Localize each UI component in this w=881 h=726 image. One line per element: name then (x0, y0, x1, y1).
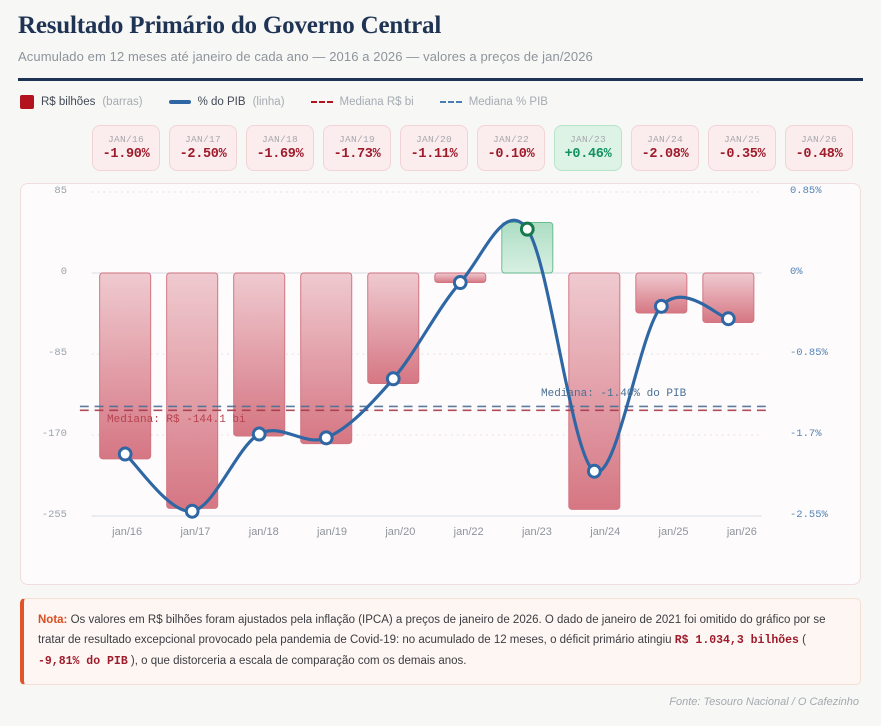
legend-item-bars: R$ bilhões (barras) (20, 95, 143, 109)
y-axis-tick-left-0: 85 (54, 185, 67, 197)
legend-item-median-brl: Mediana R$ bi (311, 96, 414, 108)
stat-card-jan-16[interactable]: JAN/16-1.90% (92, 125, 160, 171)
line-point-jan-23[interactable] (521, 223, 533, 235)
legend-label-bars: R$ bilhões (41, 96, 95, 108)
line-point-jan-18[interactable] (253, 428, 265, 440)
x-axis-tick-jan-26: jan/26 (708, 526, 776, 538)
x-axis-tick-jan-23: jan/23 (503, 526, 571, 538)
legend-item-line: % do PIB (linha) (169, 96, 285, 108)
stat-card-value: -1.90% (103, 147, 150, 162)
stat-card-value: -2.08% (642, 147, 689, 162)
stat-card-key: JAN/16 (108, 134, 144, 145)
stat-card-key: JAN/26 (801, 134, 837, 145)
y-axis-tick-right-4: -2.55% (790, 509, 828, 521)
dashed-blue-swatch-icon (440, 101, 462, 103)
stat-card-value: -2.50% (180, 147, 227, 162)
chart-svg (21, 184, 860, 584)
stat-card-key: JAN/20 (416, 134, 452, 145)
stat-card-jan-24[interactable]: JAN/24-2.08% (631, 125, 699, 171)
line-point-jan-24[interactable] (588, 465, 600, 477)
x-axis-tick-jan-25: jan/25 (640, 526, 708, 538)
chart-legend: R$ bilhões (barras) % do PIB (linha) Med… (20, 95, 867, 109)
line-point-jan-16[interactable] (119, 448, 131, 460)
line-point-jan-19[interactable] (320, 432, 332, 444)
stat-card-key: JAN/19 (339, 134, 375, 145)
legend-sublabel-line: (linha) (253, 96, 285, 108)
y-axis-tick-right-3: -1.7% (790, 428, 822, 440)
line-point-jan-22[interactable] (454, 277, 466, 289)
y-axis-tick-right-1: 0% (790, 266, 803, 278)
bar-jan-17[interactable] (167, 273, 218, 508)
median-brl-label: Mediana: R$ -144.1 bi (107, 414, 246, 426)
stat-card-jan-23[interactable]: JAN/23+0.46% (554, 125, 622, 171)
y-axis-tick-left-3: -170 (42, 428, 67, 440)
x-axis-tick-jan-20: jan/20 (366, 526, 434, 538)
stat-card-key: JAN/24 (647, 134, 683, 145)
stat-card-value: -0.35% (719, 147, 766, 162)
dashed-red-swatch-icon (311, 101, 333, 103)
stat-card-jan-20[interactable]: JAN/20-1.11% (400, 125, 468, 171)
stat-card-key: JAN/22 (493, 134, 529, 145)
x-axis-tick-jan-22: jan/22 (435, 526, 503, 538)
line-swatch-icon (169, 100, 191, 104)
line-point-jan-17[interactable] (186, 505, 198, 517)
stat-card-jan-18[interactable]: JAN/18-1.69% (246, 125, 314, 171)
stat-card-value: -1.69% (257, 147, 304, 162)
stat-card-value: -0.48% (796, 147, 843, 162)
note-box: Nota: Os valores em R$ bilhões foram aju… (20, 598, 861, 685)
y-axis-tick-left-4: -255 (42, 509, 67, 521)
stat-card-value: -1.11% (411, 147, 458, 162)
page-title: Resultado Primário do Governo Central (18, 12, 867, 40)
header-divider (18, 78, 863, 81)
y-axis-tick-left-1: 0 (61, 266, 67, 278)
line-point-jan-26[interactable] (722, 313, 734, 325)
stat-card-key: JAN/18 (262, 134, 298, 145)
y-axis-tick-right-2: -0.85% (790, 347, 828, 359)
bar-swatch-icon (20, 95, 34, 109)
stat-card-jan-25[interactable]: JAN/25-0.35% (708, 125, 776, 171)
note-text-3: ), o que distorceria a escala de compara… (128, 655, 467, 667)
stat-card-value: -0.10% (488, 147, 535, 162)
x-axis-tick-jan-16: jan/16 (93, 526, 161, 538)
y-axis-tick-left-2: -85 (48, 347, 67, 359)
stat-card-value: +0.46% (565, 147, 612, 162)
page-subtitle: Acumulado em 12 meses até janeiro de cad… (18, 49, 867, 64)
bar-jan-20[interactable] (368, 273, 419, 384)
note-highlight-1: R$ 1.034,3 bilhões (675, 634, 799, 647)
chart-panel: 850-85-170-2550.85%0%-0.85%-1.7%-2.55%ja… (20, 183, 861, 585)
legend-label-median-brl: Mediana R$ bi (340, 96, 414, 108)
stat-card-jan-26[interactable]: JAN/26-0.48% (785, 125, 853, 171)
y-axis-tick-right-0: 0.85% (790, 185, 822, 197)
chart-page: Resultado Primário do Governo Central Ac… (0, 12, 881, 726)
stat-card-jan-17[interactable]: JAN/17-2.50% (169, 125, 237, 171)
legend-sublabel-bars: (barras) (102, 96, 142, 108)
median-pib-label: Mediana: -1.40% do PIB (541, 388, 686, 400)
note-text-2: ( (799, 634, 806, 646)
stat-card-jan-19[interactable]: JAN/19-1.73% (323, 125, 391, 171)
x-axis-tick-jan-17: jan/17 (161, 526, 229, 538)
stat-card-value: -1.73% (334, 147, 381, 162)
legend-item-median-pib: Mediana % PIB (440, 96, 548, 108)
note-lead: Nota: (38, 614, 67, 626)
stat-card-key: JAN/17 (185, 134, 221, 145)
legend-label-line: % do PIB (198, 96, 246, 108)
source-line: Fonte: Tesouro Nacional / O Cafezinho (14, 696, 859, 708)
note-highlight-2: -9,81% do PIB (38, 655, 128, 668)
bar-jan-19[interactable] (301, 273, 352, 444)
bar-jan-18[interactable] (234, 273, 285, 436)
stat-card-jan-22[interactable]: JAN/22-0.10% (477, 125, 545, 171)
x-axis-tick-jan-19: jan/19 (298, 526, 366, 538)
stat-card-key: JAN/25 (724, 134, 760, 145)
stat-card-key: JAN/23 (570, 134, 606, 145)
legend-label-median-pib: Mediana % PIB (469, 96, 548, 108)
line-point-jan-25[interactable] (655, 300, 667, 312)
bar-jan-16[interactable] (100, 273, 151, 459)
x-axis-tick-jan-24: jan/24 (571, 526, 639, 538)
line-point-jan-20[interactable] (387, 373, 399, 385)
x-axis-tick-jan-18: jan/18 (230, 526, 298, 538)
stat-card-row: JAN/16-1.90%JAN/17-2.50%JAN/18-1.69%JAN/… (92, 125, 867, 171)
